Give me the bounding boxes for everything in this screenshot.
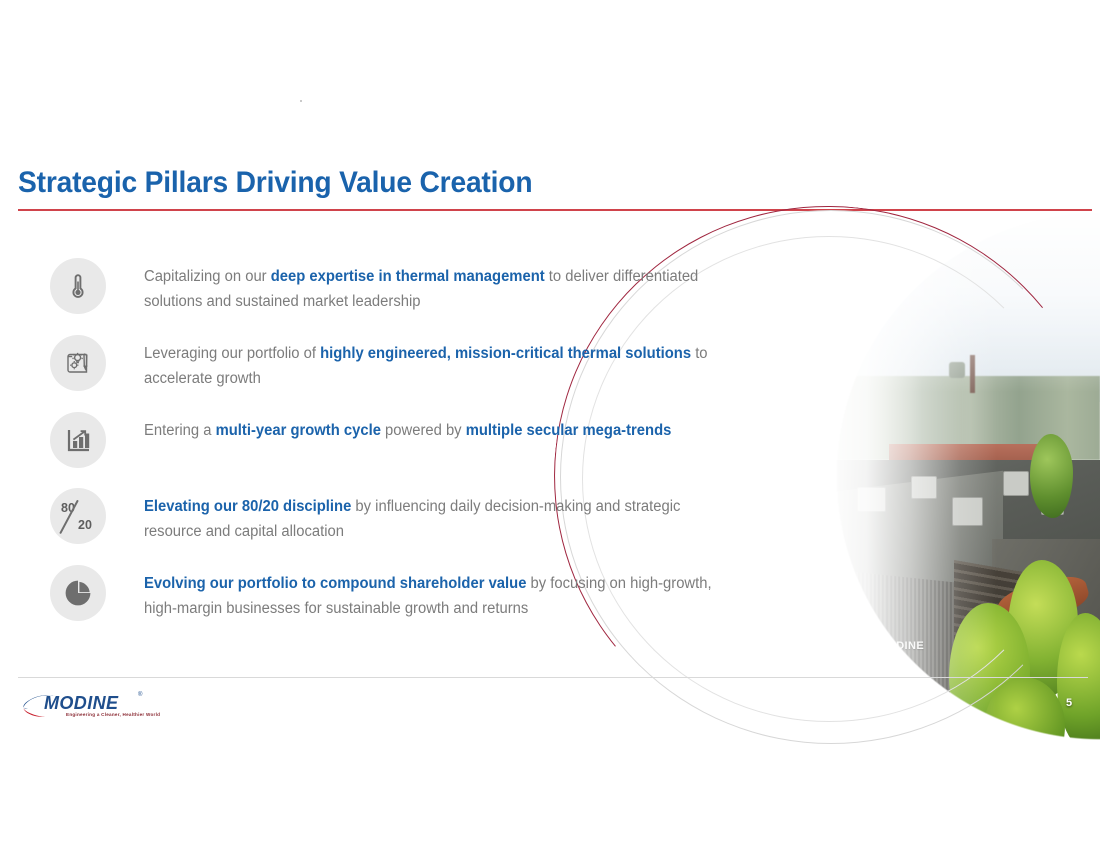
list-item: Capitalizing on our deep expertise in th… (50, 258, 764, 314)
facility-photo: MODINE (830, 212, 1100, 740)
registered-trademark-icon: ® (138, 692, 142, 698)
engineering-design-icon (50, 335, 106, 391)
list-item: Evolving our portfolio to compound share… (50, 565, 764, 621)
modine-logo-word: MODINE (44, 693, 118, 714)
list-item-text: Capitalizing on our deep expertise in th… (144, 258, 736, 314)
list-item-text: Elevating our 80/20 discipline by influe… (144, 488, 736, 544)
facility-photo-circle-mask: MODINE (830, 212, 1100, 740)
list-item: Leveraging our portfolio of highly engin… (50, 335, 764, 391)
photo-rooftop-unit (1003, 471, 1029, 497)
list-item-text: Evolving our portfolio to compound share… (144, 565, 736, 621)
title-underline-rule (18, 209, 1092, 211)
footer-divider (18, 677, 1088, 678)
eighty-twenty-bottom-text: 20 (78, 518, 92, 532)
modine-logo-tagline: Engineering a Cleaner, Healthier World (66, 712, 160, 717)
page-title: Strategic Pillars Driving Value Creation (18, 166, 532, 200)
photo-left-fade (830, 212, 997, 740)
list-item: Entering a multi-year growth cycle power… (50, 412, 764, 468)
pie-chart-icon (50, 565, 106, 621)
stray-dot-artifact (300, 100, 302, 102)
thermometer-icon (50, 258, 106, 314)
list-item-text: Entering a multi-year growth cycle power… (144, 412, 736, 443)
modine-logo: MODINE ® Engineering a Cleaner, Healthie… (22, 691, 140, 723)
eighty-twenty-icon: 80 20 (50, 488, 106, 544)
slide-root: Strategic Pillars Driving Value Creation (0, 0, 1100, 849)
list-item: 80 20 Elevating our 80/20 discipline by … (50, 488, 764, 544)
list-item-text: Leveraging our portfolio of highly engin… (144, 335, 736, 391)
growth-bar-chart-icon (50, 412, 106, 468)
photo-tree (1030, 434, 1073, 518)
page-number: 5 (1066, 697, 1072, 709)
